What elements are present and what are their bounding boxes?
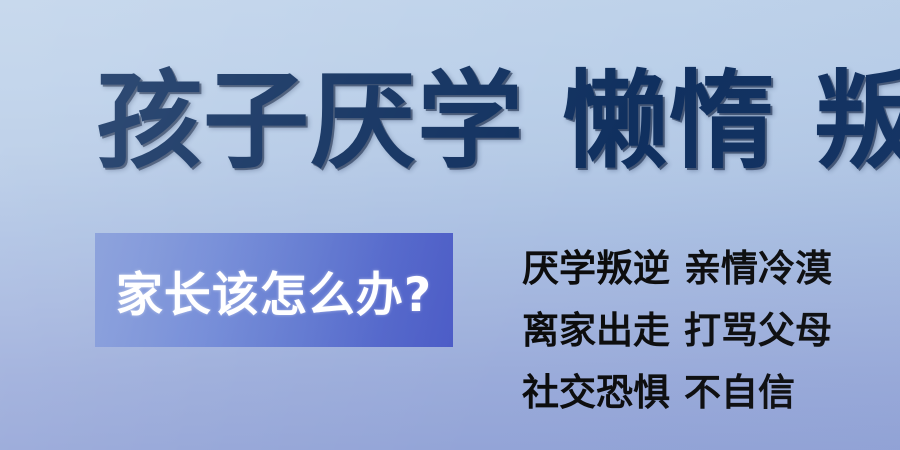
symptom-row-3: 社交恐惧不自信	[522, 362, 862, 424]
symptom-item-2-right: 打骂父母	[684, 309, 832, 352]
question-banner-label: 家长该怎么办?	[116, 256, 432, 325]
symptom-item-1-right: 亲情冷漠	[684, 247, 832, 290]
symptom-row-2: 离家出走打骂父母	[522, 300, 862, 362]
question-banner: 家长该怎么办?	[95, 233, 453, 347]
symptom-item-3-left: 社交恐惧	[522, 371, 670, 414]
symptom-item-1-left: 厌学叛逆	[522, 247, 670, 290]
symptom-item-3-right: 不自信	[684, 371, 795, 414]
symptom-row-1: 厌学叛逆亲情冷漠	[522, 238, 862, 300]
poster-canvas: 孩子厌学 懒惰 叛逆 家长该怎么办? 厌学叛逆亲情冷漠 离家出走打骂父母 社交恐…	[0, 0, 900, 450]
symptom-item-2-left: 离家出走	[522, 309, 670, 352]
page-title: 孩子厌学 懒惰 叛逆	[96, 56, 856, 188]
symptom-list: 厌学叛逆亲情冷漠 离家出走打骂父母 社交恐惧不自信	[522, 238, 862, 424]
